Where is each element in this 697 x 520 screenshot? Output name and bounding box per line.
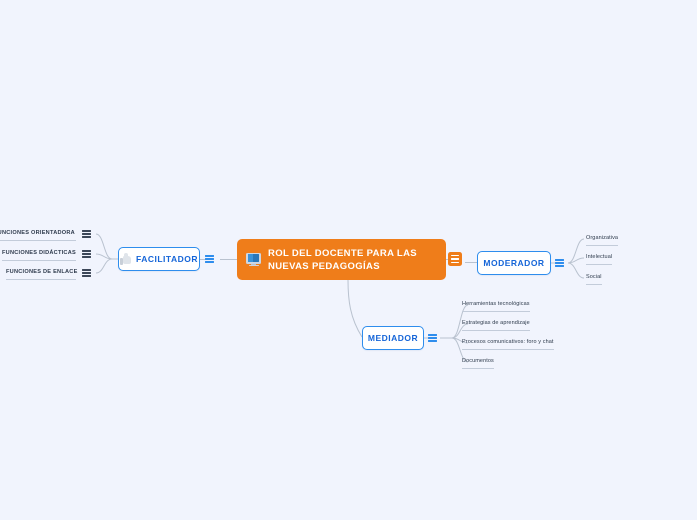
leaf-node-funciones-didacticas[interactable]: FUNCIONES DIDÁCTICAS — [2, 247, 76, 261]
funciones-de-enlace-toggle-icon[interactable] — [81, 267, 92, 279]
leaf-node-intelectual[interactable]: Intelectual — [586, 251, 612, 265]
leaf-node-label: Social — [586, 274, 602, 280]
leaf-node-organizativa[interactable]: Organizativa — [586, 232, 618, 246]
root-collapse-toggle-icon[interactable] — [448, 252, 462, 266]
leaf-node-label: Estrategias de aprendizaje — [462, 320, 530, 326]
leaf-node-label: Intelectual — [586, 254, 612, 260]
root-node-label: ROL DEL DOCENTE PARA LAS NUEVAS PEDAGOGÍ… — [268, 247, 417, 273]
leaf-node-label: Procesos comunicativos: foro y chat — [462, 339, 554, 345]
funciones-didacticas-toggle-icon[interactable] — [81, 248, 92, 260]
facilitador-collapse-toggle-icon[interactable] — [204, 253, 215, 265]
leaf-node-label: Organizativa — [586, 235, 618, 241]
moderador-collapse-toggle-icon[interactable] — [554, 257, 565, 269]
thumbs-up-icon — [120, 253, 132, 265]
leaf-node-label: FUNCIONES DE ENLACE — [6, 269, 78, 275]
root-node[interactable]: ROL DEL DOCENTE PARA LAS NUEVAS PEDAGOGÍ… — [237, 239, 446, 280]
leaf-node-documentos[interactable]: Documentos — [462, 355, 494, 369]
leaf-node-estrategias-de-aprendizaje[interactable]: Estrategias de aprendizaje — [462, 317, 530, 331]
branch-node-facilitador[interactable]: FACILITADOR — [118, 247, 200, 271]
leaf-node-social[interactable]: Social — [586, 271, 602, 285]
mindmap-canvas[interactable]: ROL DEL DOCENTE PARA LAS NUEVAS PEDAGOGÍ… — [0, 0, 697, 520]
monitor-icon — [246, 253, 261, 267]
branch-node-mediador[interactable]: MEDIADOR — [362, 326, 424, 350]
leaf-node-label: FUNCIONES ORIENTADORA — [0, 230, 75, 236]
leaf-node-label: Herramientas tecnológicas — [462, 301, 530, 307]
branch-node-facilitador-label: FACILITADOR — [136, 254, 198, 264]
leaf-node-label: Documentos — [462, 358, 494, 364]
leaf-node-funciones-orientadora[interactable]: FUNCIONES ORIENTADORA — [0, 227, 76, 241]
leaf-node-procesos-comunicativos[interactable]: Procesos comunicativos: foro y chat — [462, 336, 554, 350]
mediador-collapse-toggle-icon[interactable] — [427, 332, 438, 344]
leaf-node-herramientas-tecnologicas[interactable]: Herramientas tecnológicas — [462, 298, 530, 312]
branch-node-moderador-label: MODERADOR — [483, 258, 544, 268]
branch-node-moderador[interactable]: MODERADOR — [477, 251, 551, 275]
leaf-node-funciones-de-enlace[interactable]: FUNCIONES DE ENLACE — [6, 266, 76, 280]
funciones-orientadora-toggle-icon[interactable] — [81, 228, 92, 240]
branch-node-mediador-label: MEDIADOR — [368, 333, 418, 343]
leaf-node-label: FUNCIONES DIDÁCTICAS — [2, 250, 76, 256]
